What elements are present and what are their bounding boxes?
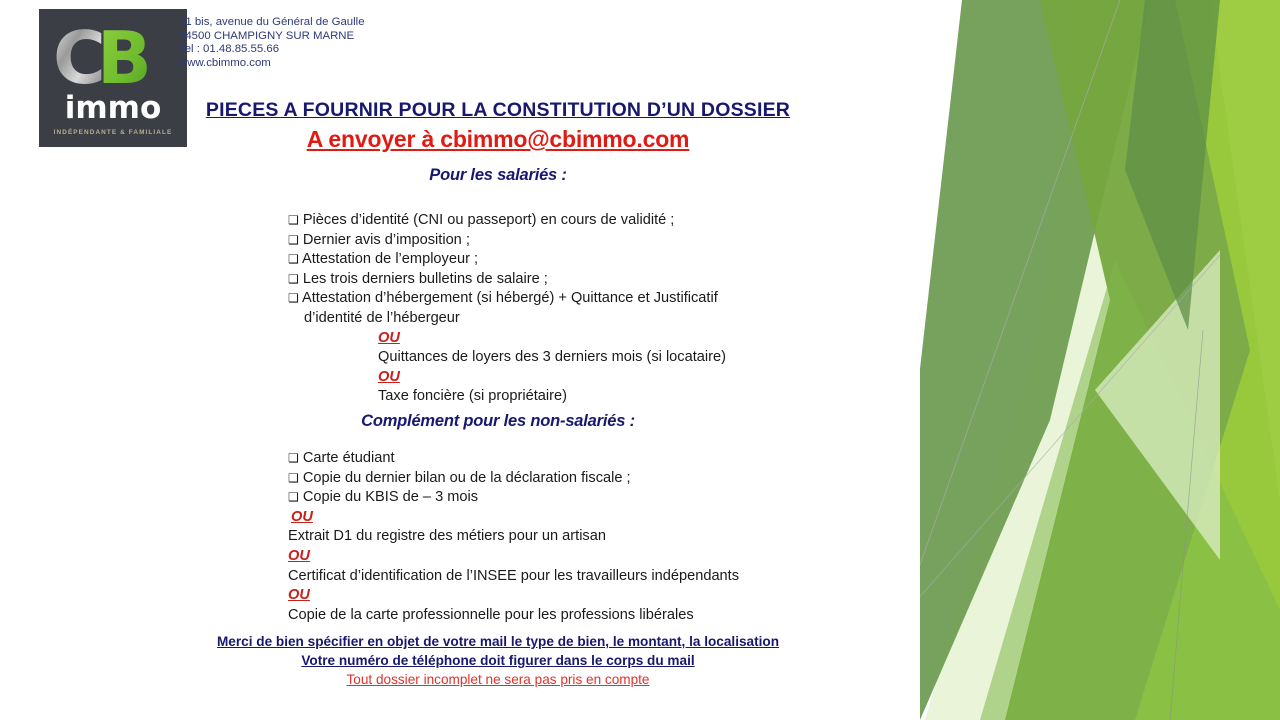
list-item: ❑ Copie du dernier bilan ou de la déclar… <box>288 469 739 489</box>
footer-note-phone: Votre numéro de téléphone doit figurer d… <box>0 652 1280 670</box>
submission-email-line: A envoyer à cbimmo@cbimmo.com <box>0 126 1280 153</box>
list-item-label: Pièces d’identité (CNI ou passeport) en … <box>303 212 675 228</box>
list-item-label: Copie du KBIS de – 3 mois <box>303 489 478 505</box>
logo-cb-svg: C B <box>53 23 173 97</box>
bullet-icon: ❑ <box>288 490 299 504</box>
slide-canvas: C B immo INDÉPENDANTE & FAMILIALE 71 bis… <box>0 0 1280 720</box>
bullet-icon: ❑ <box>288 291 299 305</box>
alternative-separator-row: OU <box>288 329 726 349</box>
company-address: 71 bis, avenue du Général de Gaulle 9450… <box>179 16 365 70</box>
alternative-option: Certificat d’identification de l’INSEE p… <box>288 567 739 587</box>
alternative-separator-row: OU <box>288 508 739 528</box>
bullet-icon: ❑ <box>288 471 299 485</box>
bullet-icon: ❑ <box>288 213 299 227</box>
ou-separator: OU <box>378 368 400 388</box>
bullet-icon: ❑ <box>288 252 299 266</box>
logo-cb-mark: C B <box>53 23 173 97</box>
alternative-option: Taxe foncière (si propriétaire) <box>288 387 726 407</box>
footer-note-subject: Merci de bien spécifier en objet de votr… <box>0 633 1280 651</box>
requirements-list-non-salaries: ❑ Carte étudiant ❑ Copie du dernier bila… <box>288 449 739 625</box>
green-shape-overlay-lower <box>980 260 1280 720</box>
bullet-icon: ❑ <box>288 451 299 465</box>
list-item: ❑ Carte étudiant <box>288 449 739 469</box>
list-item-label: Attestation de l’employeur ; <box>302 251 478 267</box>
alternative-option: Quittances de loyers des 3 derniers mois… <box>288 348 726 368</box>
section-heading-salaries: Pour les salariés : <box>0 166 1280 185</box>
footer-line-3: Tout dossier incomplet ne sera pas pris … <box>347 672 650 687</box>
alternative-separator-row: OU <box>288 547 739 567</box>
bullet-icon: ❑ <box>288 233 299 247</box>
list-item: ❑ Pièces d’identité (CNI ou passeport) e… <box>288 211 726 231</box>
bullet-icon: ❑ <box>288 272 299 286</box>
section-heading-non-salaries: Complément pour les non-salariés : <box>0 412 1280 431</box>
page-title: PIECES A FOURNIR POUR LA CONSTITUTION D’… <box>0 99 1280 122</box>
footer-line-2: Votre numéro de téléphone doit figurer d… <box>301 653 694 668</box>
ou-separator: OU <box>288 586 310 606</box>
hairline-diagonal-2 <box>920 255 1220 665</box>
list-item-label: Carte étudiant <box>303 450 395 466</box>
footer-note-incomplete: Tout dossier incomplet ne sera pas pris … <box>0 671 1280 689</box>
list-item: ❑ Les trois derniers bulletins de salair… <box>288 270 726 290</box>
ou-separator: OU <box>378 329 400 349</box>
list-item-label: Attestation d’hébergement (si hébergé) +… <box>302 290 718 306</box>
logo-letter-b: B <box>97 23 152 97</box>
green-shape-dark-accent <box>1125 0 1220 330</box>
alternative-option: Extrait D1 du registre des métiers pour … <box>288 527 739 547</box>
ou-separator: OU <box>288 547 310 567</box>
list-item-label: Dernier avis d’imposition ; <box>303 232 470 248</box>
alternative-separator-row: OU <box>288 368 726 388</box>
ou-separator: OU <box>291 508 313 528</box>
alternative-separator-row: OU <box>288 586 739 606</box>
list-item-continuation: d’identité de l’hébergeur <box>288 309 726 329</box>
green-shape-overlay-pale <box>1095 250 1220 560</box>
alternative-option: Copie de la carte professionnelle pour l… <box>288 606 739 626</box>
list-item-label: Copie du dernier bilan ou de la déclarat… <box>303 470 631 486</box>
footer-line-1: Merci de bien spécifier en objet de votr… <box>217 634 779 649</box>
list-item-label: Les trois derniers bulletins de salaire … <box>303 271 548 287</box>
list-item: ❑ Dernier avis d’imposition ; <box>288 231 726 251</box>
list-item: ❑ Copie du KBIS de – 3 mois <box>288 488 739 508</box>
list-item: ❑ Attestation d’hébergement (si hébergé)… <box>288 289 726 309</box>
list-item: ❑ Attestation de l’employeur ; <box>288 250 726 270</box>
requirements-list-salaries: ❑ Pièces d’identité (CNI ou passeport) e… <box>288 211 726 407</box>
